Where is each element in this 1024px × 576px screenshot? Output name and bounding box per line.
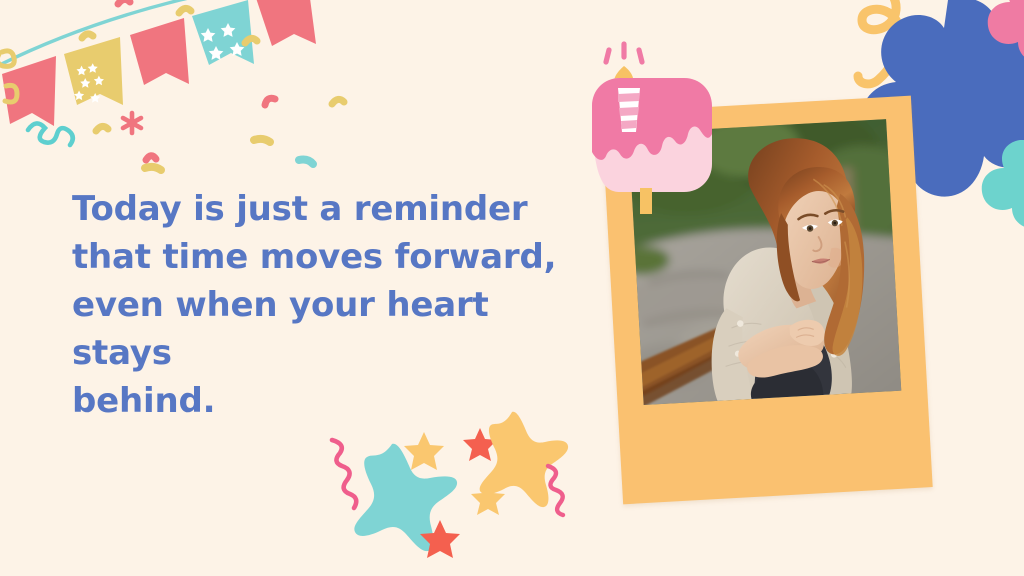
sparkle-asterisk [123,113,141,133]
stars-cluster [300,402,600,576]
candle-sparkles [606,44,642,62]
slide-canvas: Today is just a reminder that time moves… [0,0,1024,576]
pink-flower-blob [978,0,1024,76]
teal-flower-blob [976,130,1024,240]
birthday-cake [578,28,758,208]
quote-text: Today is just a reminder that time moves… [72,186,572,426]
